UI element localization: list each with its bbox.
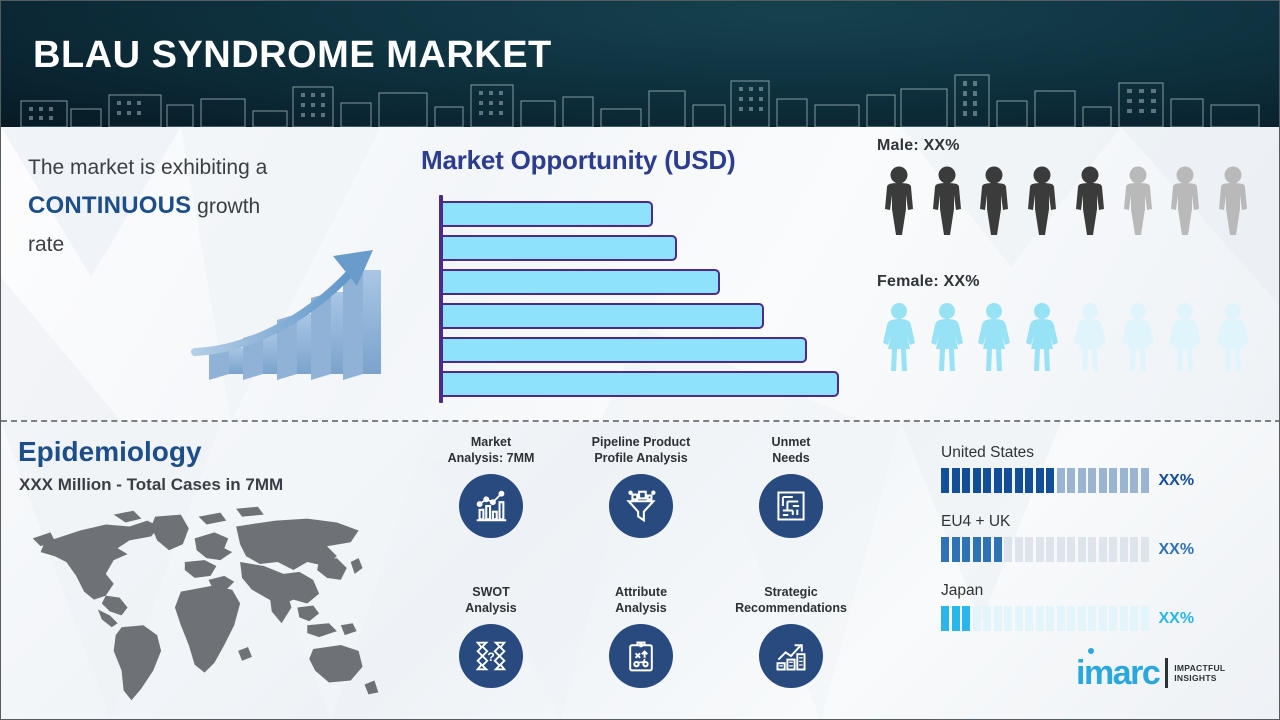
gauge-segment [1120,468,1128,493]
gauge-segment [1078,468,1086,493]
chart-bar [443,269,720,295]
female-figure-icon [877,301,921,373]
gauge-segment [1130,537,1138,562]
male-figure-icon [1020,165,1064,237]
gauge-segment [1036,537,1044,562]
gauge-segment [994,606,1002,631]
epidemiology-subtitle: XXX Million - Total Cases in 7MM [19,475,283,495]
gauge-segment [983,606,991,631]
gauge-segment [1141,537,1149,562]
gauge-segment [941,606,949,631]
chart-bar [443,235,677,261]
svg-text:?: ? [487,650,495,664]
funnel-filter-icon[interactable] [609,474,673,538]
swot-arrows-question-icon[interactable]: ? [459,624,523,688]
capability-label: Pipeline ProductProfile Analysis [566,434,716,466]
capability-label: UnmetNeeds [716,434,866,466]
gauge-segment [1067,537,1075,562]
region-name: EU4 + UK [941,513,1271,531]
gauge-segment [952,537,960,562]
gauge-segment [1046,468,1054,493]
gauge-track [941,537,1149,562]
region-value: XX% [1159,541,1195,559]
demographics-panel: Male: XX% Female: XX% [877,137,1273,407]
gauge-segment [1046,606,1054,631]
gauge-segment [973,537,981,562]
logo-dot [1088,648,1094,654]
male-label: Male: XX% [877,137,1273,155]
growth-chart-arrow-icon[interactable] [759,624,823,688]
gauge-segment [1088,468,1096,493]
capability-label: AttributeAnalysis [566,584,716,616]
chart-bar [443,337,807,363]
gauge-segment [1015,537,1023,562]
imarc-logo: imarc IMPACTFUL INSIGHTS [1076,656,1266,702]
gauge-segment [952,606,960,631]
bar-chart-analysis-icon[interactable] [459,474,523,538]
capability-label: MarketAnalysis: 7MM [416,434,566,466]
lead-line-2-rest: growth [191,195,260,218]
male-figure-icon [925,165,969,237]
gauge-segment [1015,606,1023,631]
clipboard-strategy-icon[interactable] [609,624,673,688]
gauge-segment [1004,537,1012,562]
region-value: XX% [1159,472,1195,490]
gauge-segment [1109,606,1117,631]
capability-item-bar-chart-analysis[interactable]: MarketAnalysis: 7MM [416,434,566,538]
region-name: Japan [941,582,1271,600]
chart-bar [443,201,653,227]
gauge-segment [1109,537,1117,562]
gauge-segment [1109,468,1117,493]
female-figure-row [877,301,1255,373]
gauge-segment [1004,468,1012,493]
capability-item-swot-arrows-question[interactable]: SWOTAnalysis? [416,584,566,688]
gauge-segment [941,468,949,493]
female-figure-icon [972,301,1016,373]
gauge-segment [994,468,1002,493]
capability-label: SWOTAnalysis [416,584,566,616]
female-figure-icon [1163,301,1207,373]
top-section: The market is exhibiting a CONTINUOUS gr… [1,127,1280,421]
gauge-segment [1099,537,1107,562]
capability-label: StrategicRecommendations [716,584,866,616]
gauge-segment [1078,606,1086,631]
regions-panel: United StatesXX%EU4 + UKXX%JapanXX% [941,444,1271,664]
gauge-segment [1057,468,1065,493]
chart-title: Market Opportunity (USD) [421,145,851,176]
gauge-segment [962,468,970,493]
gauge-segment [1141,468,1149,493]
gauge-segment [1067,606,1075,631]
gauge-segment [1130,468,1138,493]
male-figure-icon [1116,165,1160,237]
gauge-segment [973,468,981,493]
gauge-track [941,468,1149,493]
gauge-segment [941,537,949,562]
logo-wordmark: imarc [1076,656,1159,690]
page-title: BLAU SYNDROME MARKET [33,34,552,77]
epidemiology-title: Epidemiology [18,436,202,468]
logo-tagline-2: INSIGHTS [1174,673,1225,683]
lead-line-1: The market is exhibiting a [28,149,378,187]
region-gauge: JapanXX% [941,582,1271,631]
region-name: United States [941,444,1271,462]
lead-line-2: CONTINUOUS growth [28,187,378,226]
gauge-segment [1036,468,1044,493]
gauge-segment [1078,537,1086,562]
gauge-segment [1120,537,1128,562]
gauge-segment [1057,537,1065,562]
gauge-segment [983,537,991,562]
logo-tagline-1: IMPACTFUL [1174,663,1225,673]
capabilities-grid: MarketAnalysis: 7MMPipeline ProductProfi… [416,434,866,714]
male-figure-icon [972,165,1016,237]
chart-bar [443,371,839,397]
gauge-segment [1046,537,1054,562]
gauge-segment [983,468,991,493]
lead-highlight: CONTINUOUS [28,192,191,219]
growth-arrow-bars-icon [191,242,391,382]
header-banner: BLAU SYNDROME MARKET [1,1,1280,127]
logo-divider [1165,658,1168,688]
gauge-segment [1141,606,1149,631]
gauge-segment [973,606,981,631]
capability-item-funnel-filter[interactable]: Pipeline ProductProfile Analysis [566,434,716,538]
gauge-track [941,606,1149,631]
maze-icon[interactable] [759,474,823,538]
gauge-segment [952,468,960,493]
market-opportunity-chart: Market Opportunity (USD) [421,145,851,415]
gauge-segment [962,537,970,562]
region-gauge: EU4 + UKXX% [941,513,1271,562]
gauge-segment [1025,537,1033,562]
gauge-segment [1088,606,1096,631]
male-figure-row [877,165,1255,237]
male-figure-icon [1163,165,1207,237]
world-map-icon [11,497,406,712]
region-value: XX% [1159,610,1195,628]
gauge-segment [1099,468,1107,493]
gauge-segment [1057,606,1065,631]
chart-bar [443,303,764,329]
female-label: Female: XX% [877,273,1273,291]
gauge-segment [1067,468,1075,493]
male-figure-icon [1068,165,1112,237]
female-block: Female: XX% [877,273,1273,373]
female-figure-icon [1211,301,1255,373]
male-figure-icon [877,165,921,237]
infographic-page: BLAU SYNDROME MARKET The market is exhib… [0,0,1280,720]
gauge-segment [1130,606,1138,631]
female-figure-icon [925,301,969,373]
gauge-segment [962,606,970,631]
gauge-segment [1099,606,1107,631]
chart-plot-area [439,195,839,403]
chart-bars [443,201,839,397]
gauge-segment [1036,606,1044,631]
gauge-segment [1015,468,1023,493]
gauge-segment [1004,606,1012,631]
capability-item-maze[interactable]: UnmetNeeds [716,434,866,538]
female-figure-icon [1068,301,1112,373]
gauge-segment [1120,606,1128,631]
female-figure-icon [1116,301,1160,373]
gauge-segment [1088,537,1096,562]
gauge-segment [994,537,1002,562]
male-figure-icon [1211,165,1255,237]
capability-item-growth-chart-arrow[interactable]: StrategicRecommendations [716,584,866,688]
female-figure-icon [1020,301,1064,373]
gauge-segment [1025,606,1033,631]
gauge-segment [1025,468,1033,493]
region-gauge: United StatesXX% [941,444,1271,493]
capability-item-clipboard-strategy[interactable]: AttributeAnalysis [566,584,716,688]
